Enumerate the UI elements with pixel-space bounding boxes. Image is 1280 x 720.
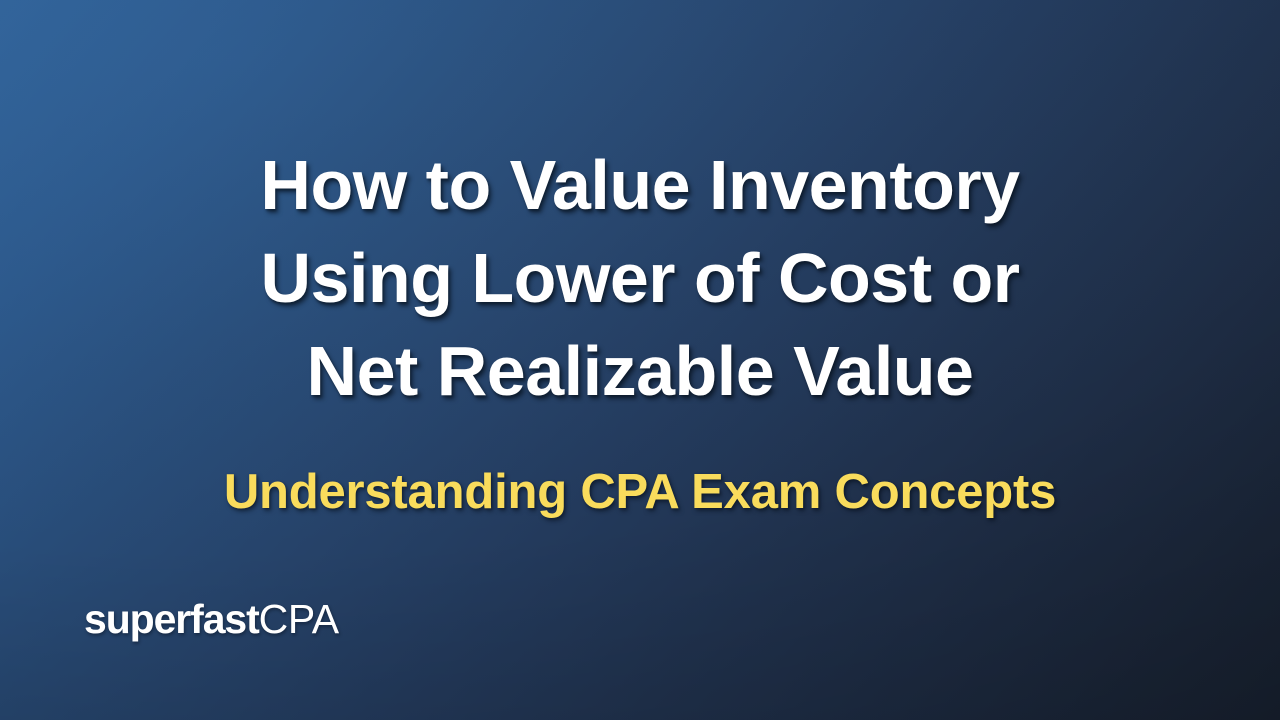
title-line-2: Using Lower of Cost or <box>0 232 1280 325</box>
title-line-3: Net Realizable Value <box>0 325 1280 418</box>
logo-text-superfast: superfast <box>84 596 259 643</box>
page-title: How to Value Inventory Using Lower of Co… <box>0 139 1280 418</box>
superfastcpa-logo: superfast CPA <box>84 596 339 643</box>
page-subtitle: Understanding CPA Exam Concepts <box>0 462 1280 522</box>
logo-text-cpa: CPA <box>259 596 339 643</box>
slide-content: How to Value Inventory Using Lower of Co… <box>0 0 1280 720</box>
title-line-1: How to Value Inventory <box>0 139 1280 232</box>
title-card-slide: How to Value Inventory Using Lower of Co… <box>0 0 1280 720</box>
